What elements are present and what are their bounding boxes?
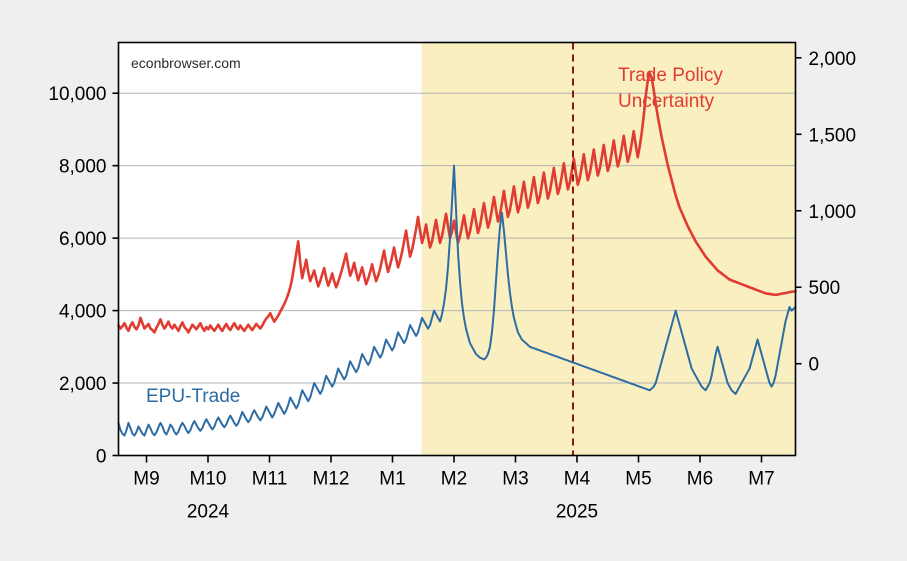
x-axis-tick-label: M5	[625, 469, 651, 490]
x-axis-tick-label: M6	[687, 469, 713, 490]
right-axis-tick-label: 1,000	[809, 202, 857, 223]
x-axis-year-label: 2025	[556, 502, 598, 523]
x-axis-tick-label: M7	[748, 469, 774, 490]
x-axis-tick-label: M1	[379, 469, 405, 490]
x-axis-tick-label: M3	[502, 469, 528, 490]
x-axis-tick-label: M4	[564, 469, 591, 490]
right-axis-tick-label: 0	[809, 355, 820, 376]
left-axis-tick-label: 2,000	[59, 374, 107, 395]
trade-policy-uncertainty-chart: 02,0004,0006,0008,00010,00005001,0001,50…	[0, 0, 907, 561]
right-axis-tick-label: 1,500	[809, 125, 857, 146]
x-axis-tick-label: M9	[133, 469, 159, 490]
x-axis-tick-label: M2	[441, 469, 467, 490]
right-axis-tick-label: 500	[809, 278, 841, 299]
chart-container: 02,0004,0006,0008,00010,00005001,0001,50…	[0, 0, 907, 561]
right-axis-tick-label: 2,000	[809, 49, 857, 70]
left-axis-tick-label: 10,000	[48, 84, 106, 105]
epu-trade-label: EPU-Trade	[146, 386, 240, 407]
left-axis-tick-label: 8,000	[59, 157, 107, 178]
x-axis-tick-label: M10	[190, 469, 227, 490]
watermark-label: econbrowser.com	[131, 55, 241, 71]
x-axis-year-label: 2024	[187, 502, 230, 523]
x-axis-tick-label: M11	[252, 469, 288, 490]
left-axis-tick-label: 0	[96, 447, 107, 468]
left-axis-tick-label: 6,000	[59, 229, 107, 250]
x-axis-tick-label: M12	[313, 469, 350, 490]
shaded-region	[422, 43, 796, 456]
left-axis-tick-label: 4,000	[59, 302, 107, 323]
